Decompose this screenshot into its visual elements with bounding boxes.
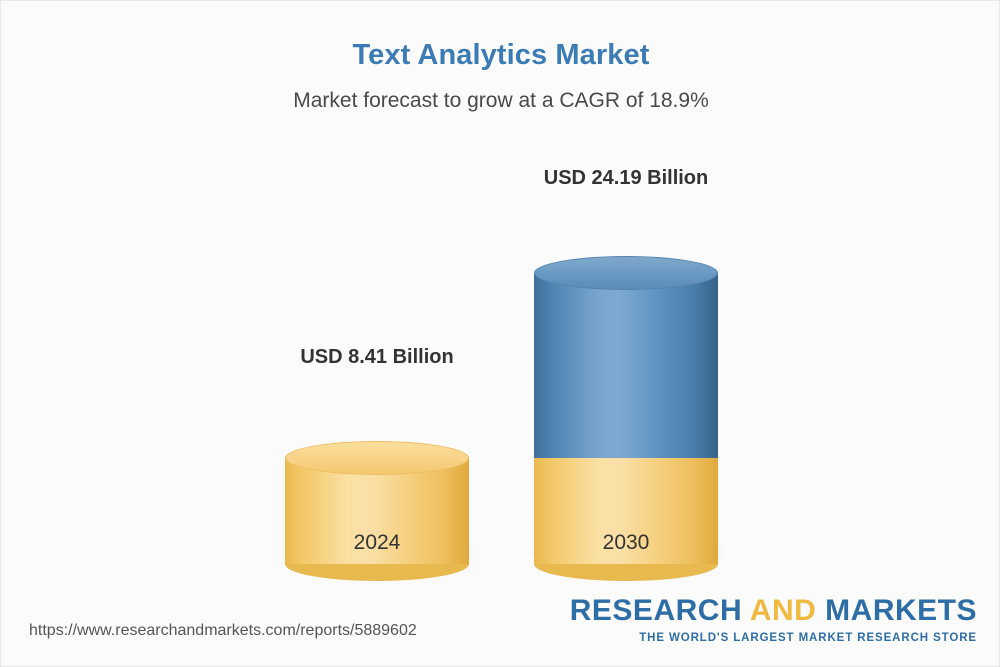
brand-word-research: RESEARCH <box>570 594 750 627</box>
cylinder-2024 <box>285 441 469 581</box>
bar-group-2030: USD 24.19 Billion 2030 <box>534 131 718 581</box>
brand-logo: RESEARCH AND MARKETS THE WORLD'S LARGEST… <box>570 596 977 645</box>
cylinder-body-upper-2030 <box>534 273 718 458</box>
brand-word-markets: MARKETS <box>816 594 977 627</box>
bar-group-2024: USD 8.41 Billion 2024 <box>285 131 469 581</box>
page-subtitle: Market forecast to grow at a CAGR of 18.… <box>1 89 1000 113</box>
page-title: Text Analytics Market <box>1 39 1000 72</box>
source-url[interactable]: https://www.researchandmarkets.com/repor… <box>29 622 417 640</box>
cylinder-top-2030 <box>534 256 718 290</box>
brand-tagline: THE WORLD'S LARGEST MARKET RESEARCH STOR… <box>570 633 977 645</box>
chart-page: Text Analytics Market Market forecast to… <box>0 0 1000 667</box>
category-label-2030: 2030 <box>534 531 718 555</box>
bar-chart: USD 8.41 Billion 2024 USD 24.19 Billion <box>1 131 1000 581</box>
brand-wordmark: RESEARCH AND MARKETS <box>570 596 977 626</box>
bar-value-label-2024: USD 8.41 Billion <box>285 346 469 369</box>
brand-word-and: AND <box>750 594 817 627</box>
cylinder-top-2024 <box>285 441 469 475</box>
bar-value-label-2030: USD 24.19 Billion <box>534 167 718 190</box>
category-label-2024: 2024 <box>285 531 469 555</box>
